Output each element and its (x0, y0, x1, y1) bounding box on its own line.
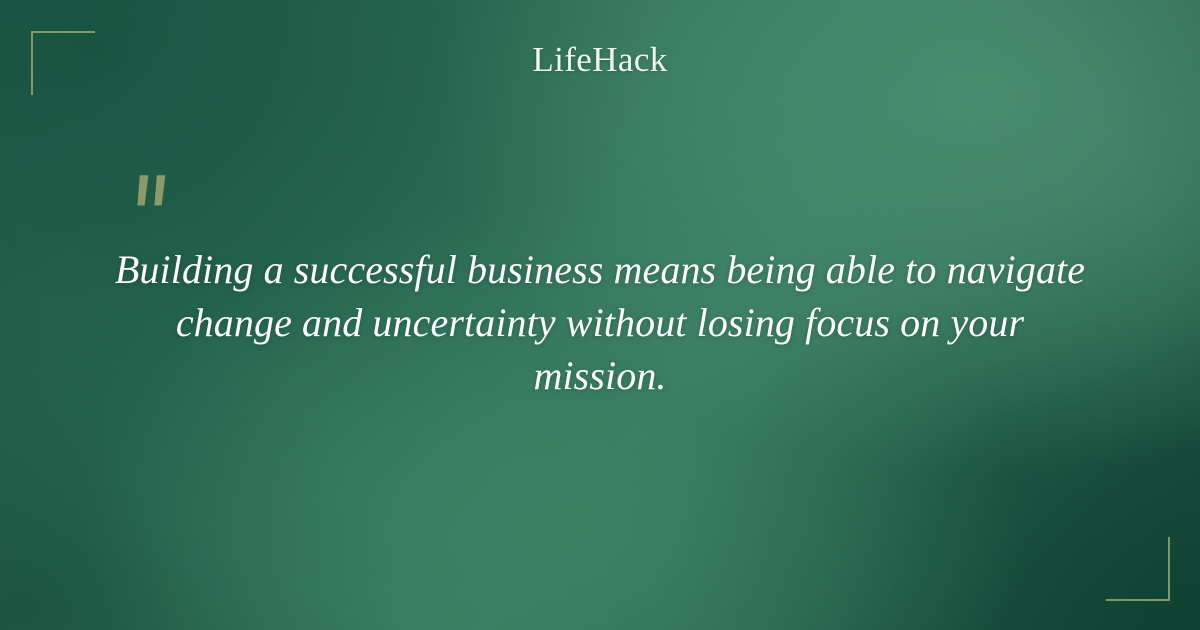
quotation-mark-icon (133, 172, 177, 218)
quote-line-2: change and uncertainty without losing fo… (80, 296, 1120, 349)
quote-line-3: mission. (80, 349, 1120, 402)
brand-logo: LifeHack (0, 38, 1200, 82)
quote-text: Building a successful business means bei… (80, 243, 1120, 402)
quote-card: LifeHack Building a successful business … (0, 0, 1200, 630)
quote-line-1: Building a successful business means bei… (80, 243, 1120, 296)
